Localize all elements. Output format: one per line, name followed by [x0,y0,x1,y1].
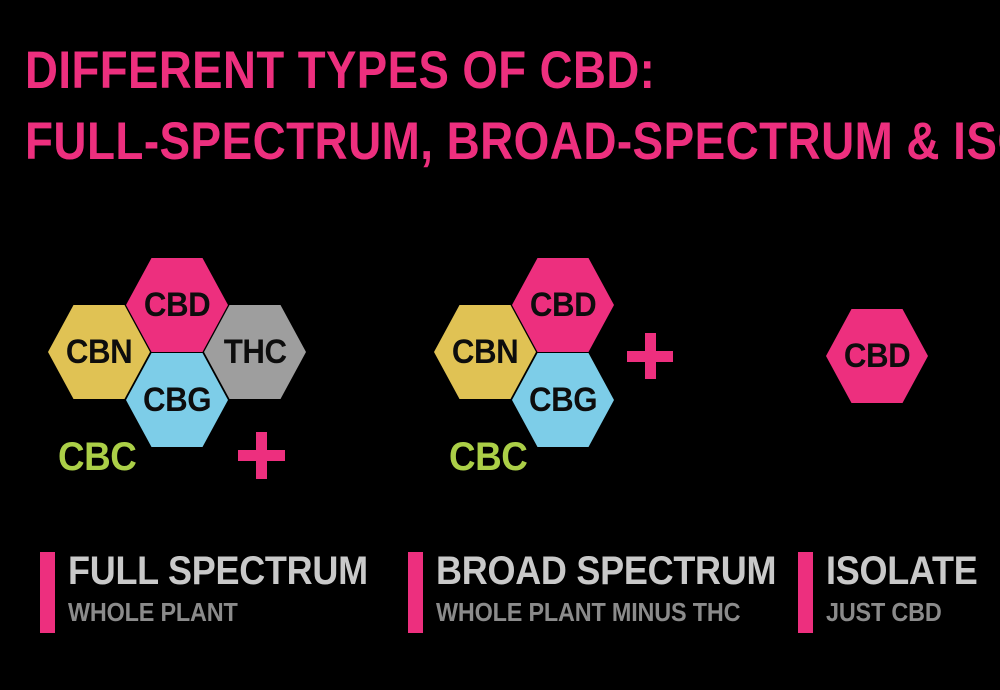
legend-subtitle: JUST CBD [826,598,977,627]
hex-label-cbd: CBD [844,339,910,373]
legend-text-block: BROAD SPECTRUM WHOLE PLANT MINUS THC [436,550,814,627]
legend-text-block: ISOLATE JUST CBD [826,550,994,627]
legend-title: BROAD SPECTRUM [436,550,776,592]
legend-title: ISOLATE [826,550,977,592]
legend-bar [408,552,423,633]
legend-bar [798,552,813,633]
legend-bar [40,552,55,633]
legend-subtitle: WHOLE PLANT MINUS THC [436,598,776,627]
legend-subtitle: WHOLE PLANT [68,598,368,627]
legend-text-block: FULL SPECTRUM WHOLE PLANT [68,550,401,627]
hex-cbd-isolate[interactable]: CBD [826,309,928,403]
infographic-canvas: DIFFERENT TYPES OF CBD: FULL-SPECTRUM, B… [0,0,1000,690]
legend-title: FULL SPECTRUM [68,550,368,592]
hex-group-isolate: CBD [0,0,1000,500]
